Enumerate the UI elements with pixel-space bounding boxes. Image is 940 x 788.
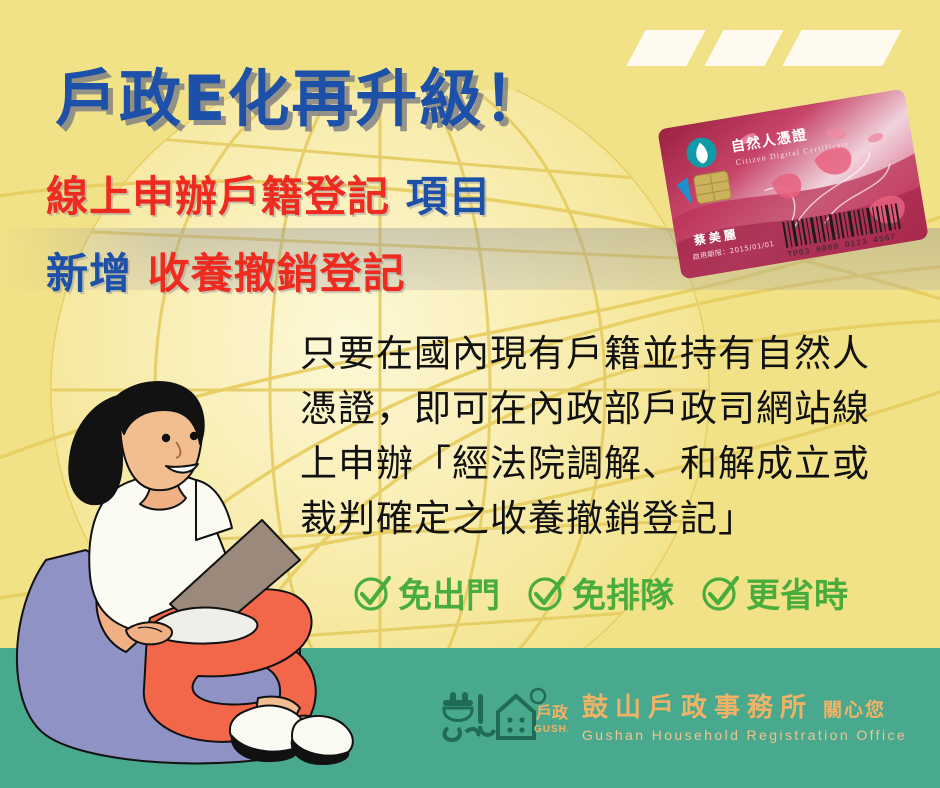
description-line: 只要在國內現有戶籍並持有自然人 [300, 326, 936, 381]
description-paragraph: 只要在國內現有戶籍並持有自然人 憑證，即可在內政部戶政司網站線 上申辦「經法院調… [300, 326, 936, 546]
svg-text:GUSHAN: GUSHAN [534, 724, 568, 735]
office-name-en: Gushan Household Registration Office [582, 727, 907, 743]
page-title: 戶政E化再升級！ [55, 48, 547, 138]
subtitle-1-blue-text: 項目 [406, 172, 492, 221]
description-line: 裁判確定之收養撤銷登記」 [300, 491, 936, 546]
subtitle-2-red-text: 收養撤銷登記 [148, 249, 406, 298]
benefit-label: 更省時 [746, 568, 848, 617]
benefit-item: 免排隊 [526, 568, 674, 617]
benefits-list: 免出門 免排隊 更省時 [352, 568, 848, 617]
subtitle-1-red-text: 線上申辦戶籍登記 [46, 172, 390, 221]
subtitle-2-blue-text: 新增 [46, 249, 132, 298]
benefit-label: 免出門 [398, 568, 500, 617]
check-circle-icon [700, 572, 742, 614]
poster-canvas: 自然人憑證 Citizen Digital Certificate 蔡美麗 啟用… [0, 0, 940, 788]
gushan-logo-icon: 戶政 GUSHAN [438, 686, 568, 744]
office-name-cn: 鼓山戶政事務所 [582, 687, 813, 724]
subtitle-line-1: 線上申辦戶籍登記 項目 [46, 163, 492, 224]
office-care-text: 關心您 [823, 695, 886, 724]
woman-with-laptop-illustration [0, 380, 360, 788]
svg-text:戶政: 戶政 [536, 703, 568, 722]
benefit-item: 更省時 [700, 568, 848, 617]
benefit-item: 免出門 [352, 568, 500, 617]
description-line: 上申辦「經法院調解、和解成立或 [300, 436, 936, 491]
footer-text-block: 鼓山戶政事務所 關心您 Gushan Household Registratio… [582, 687, 907, 743]
footer-branding: 戶政 GUSHAN 鼓山戶政事務所 關心您 Gushan Household R… [438, 686, 907, 744]
subtitle-line-2: 新增 收養撤銷登記 [46, 240, 406, 301]
footer-office-row: 鼓山戶政事務所 關心您 [582, 687, 907, 724]
check-circle-icon [526, 572, 568, 614]
description-line: 憑證，即可在內政部戶政司網站線 [300, 381, 936, 436]
benefit-label: 免排隊 [572, 568, 674, 617]
